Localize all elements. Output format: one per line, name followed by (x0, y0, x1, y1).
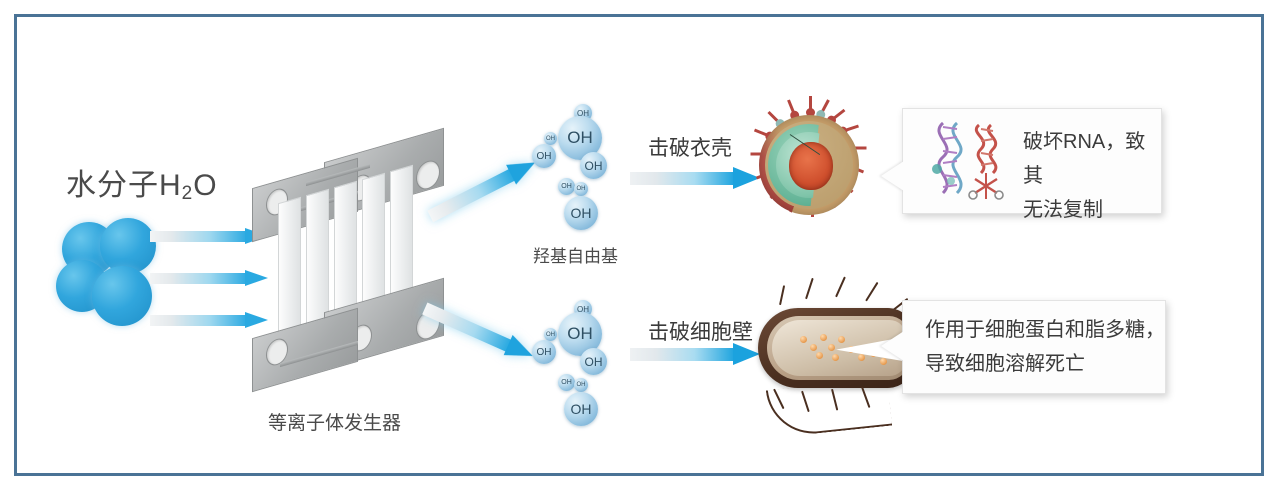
rna-strand-icon (917, 119, 1017, 203)
water-sphere (100, 218, 156, 274)
action-label-break-capsid: 击破衣壳 (648, 132, 732, 162)
action-label-break-cell-wall: 击破细胞壁 (648, 316, 753, 346)
oh-molecule: OH (574, 182, 588, 196)
callout-tail (881, 161, 904, 191)
oh-molecule: OH (574, 378, 588, 392)
attack-arrow-virus-icon (630, 167, 760, 189)
callout-line: 导致细胞溶解死亡 (925, 347, 1165, 381)
callout-line: 作用于细胞蛋白和脂多糖， (925, 313, 1165, 347)
oh-molecule: OH (558, 374, 575, 391)
callout-text-rna: 破坏RNA，致其 无法复制 (1023, 125, 1161, 227)
bacterium-flagellum (766, 378, 892, 438)
callout-line: 破坏RNA，致其 (1023, 125, 1161, 193)
oh-molecule: OH (580, 152, 607, 179)
plasma-generator-label: 等离子体发生器 (268, 408, 401, 435)
oh-molecule: OH (544, 328, 557, 341)
callout-tail (881, 331, 904, 361)
callout-box-bacterium: 作用于细胞蛋白和脂多糖， 导致细胞溶解死亡 (902, 300, 1166, 394)
virus-icon (742, 98, 876, 232)
callout-line: 无法复制 (1023, 193, 1161, 227)
water-molecule-label: 水分子H2O (66, 160, 218, 205)
diagram-canvas: 水分子H2O 等离子体发生器 (0, 0, 1280, 492)
oh-molecule: OH (532, 144, 556, 168)
water-molecule-cluster-icon (56, 218, 160, 326)
oh-molecule: OH (564, 392, 598, 426)
callout-box-rna: 破坏RNA，致其 无法复制 (902, 108, 1162, 214)
water-label-tail: O (193, 169, 217, 202)
oh-molecule: OH (532, 340, 556, 364)
hydroxyl-radical-label: 羟基自由基 (533, 242, 618, 267)
oh-molecule: OH (544, 132, 557, 145)
water-label-subscript: 2 (182, 183, 194, 204)
oh-molecule: OH (564, 196, 598, 230)
water-sphere (92, 266, 152, 326)
callout-text-bacterium: 作用于细胞蛋白和脂多糖， 导致细胞溶解死亡 (925, 313, 1165, 381)
oh-molecule: OH (580, 348, 607, 375)
hydroxyl-radical-cluster-icon: OH OH OH OH OH OH OH OH (528, 300, 648, 440)
water-label-main: 水分子H (66, 169, 182, 202)
plasma-generator-icon (250, 145, 450, 400)
oh-molecule: OH (558, 178, 575, 195)
